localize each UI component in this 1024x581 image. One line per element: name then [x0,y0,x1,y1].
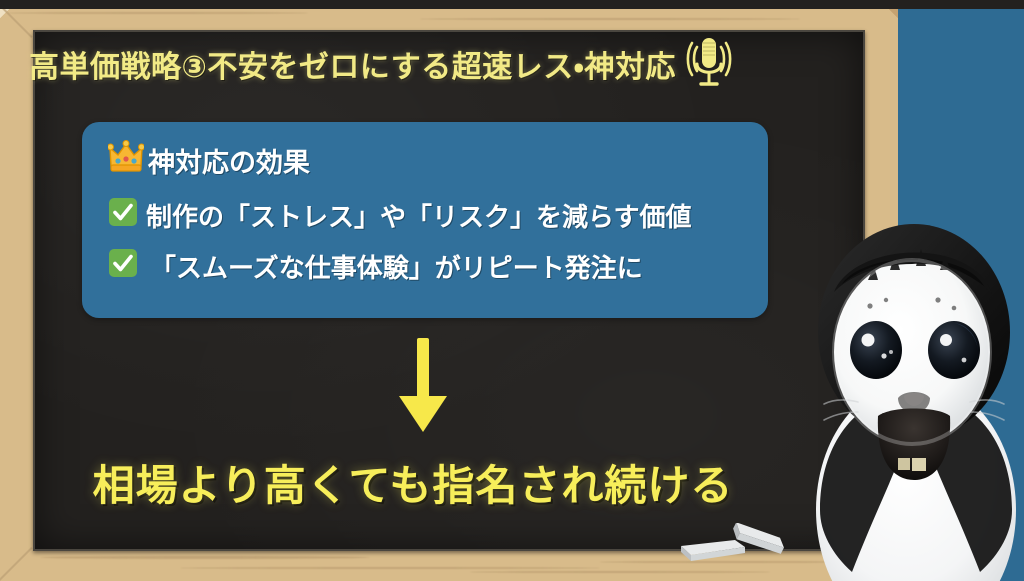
headline-text: 相場より高くても指名され続ける [33,452,793,513]
check-mark-button-emoji [108,197,138,234]
slide-canvas: 高単価戦略③不安をゼロにする超速レス・神対応 [0,0,1024,581]
list-item-label: 「スムーズな仕事体験」がリピート発注に [150,248,643,285]
wood-grain [180,567,600,569]
microphone-icon [686,33,732,95]
panel-heading-label: 神対応の効果 [148,141,310,180]
panel-heading-row: 神対応の効果 [108,140,742,181]
slide-title-row: 高単価戦略③不安をゼロにする超速レス・神対応 [29,36,809,92]
list-item: 制作の「ストレス」や「リスク」を減らす価値 [108,197,742,234]
down-arrow-icon [392,338,454,438]
page-title: 高単価戦略③不安をゼロにする超速レス・神対応 [29,42,676,86]
chalk-piece [723,523,785,575]
list-item: 「スムーズな仕事体験」がリピート発注に [108,248,742,285]
wood-grain [420,18,800,20]
list-item-label: 制作の「ストレス」や「リスク」を減らす価値 [146,197,691,234]
check-mark-button-emoji [108,248,138,285]
effects-panel: 神対応の効果 制作の「ストレス」や「リスク」を減らす価値 「スムーズな仕事体験」… [82,122,768,318]
wood-grain [40,556,370,559]
penguin-character [812,180,1024,581]
crown-emoji [108,140,144,181]
top-dark-band [0,0,1024,9]
wood-grain [8,12,308,14]
